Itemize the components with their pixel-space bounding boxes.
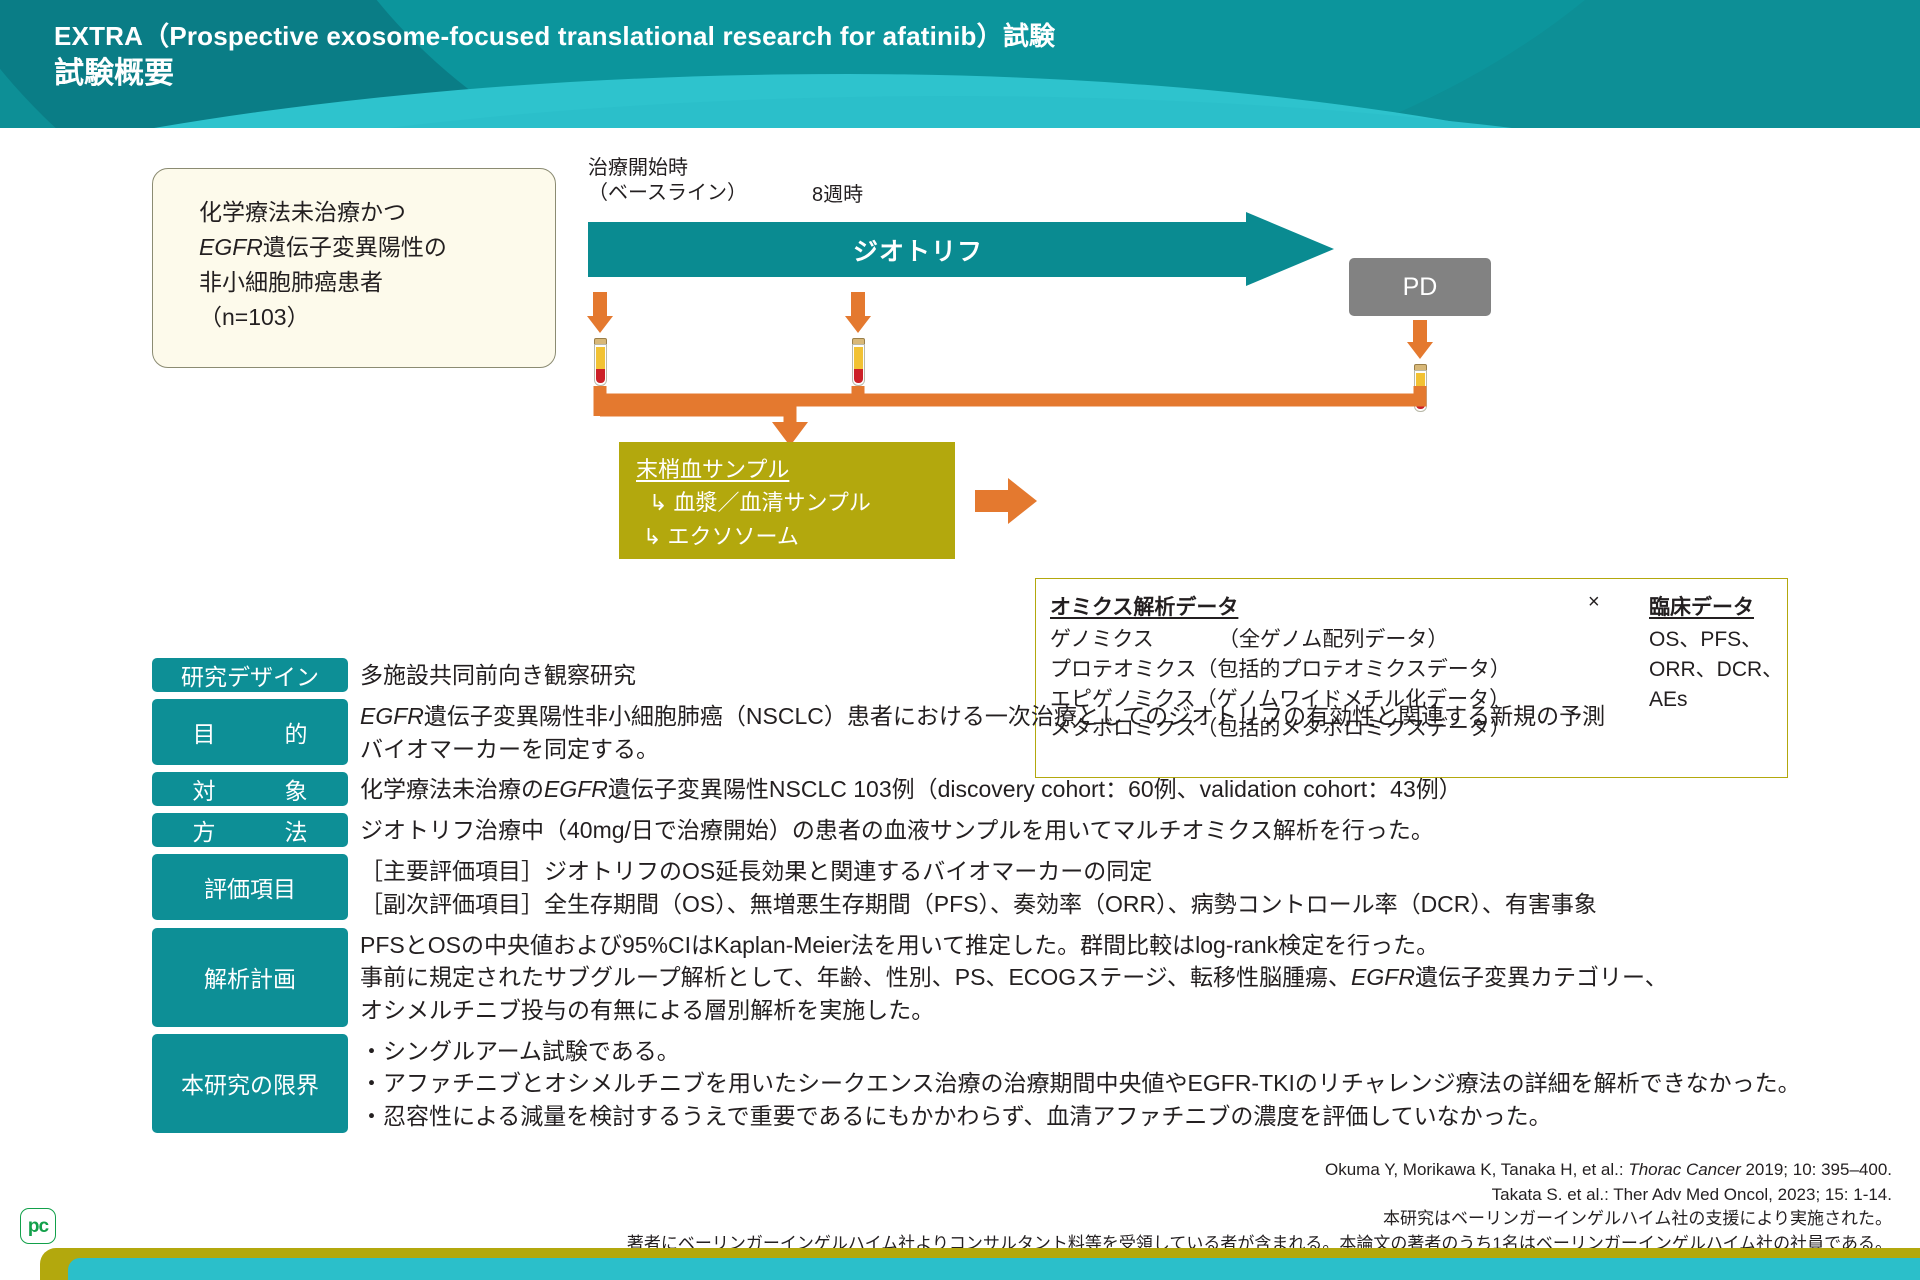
table-row-content: ・シングルアーム試験である。・アファチニブとオシメルチニブを用いたシークエンス治… xyxy=(360,1034,1801,1133)
table-row-label: 方 法 xyxy=(152,813,348,847)
table-row-line: ジオトリフ治療中（40mg/日で治療開始）の患者の血液サンプルを用いてマルチオミ… xyxy=(360,814,1434,847)
table-row-label: 対 象 xyxy=(152,772,348,806)
table-row-line: 多施設共同前向き観察研究 xyxy=(360,659,636,692)
table-row-content: 化学療法未治療のEGFR遺伝子変異陽性NSCLC 103例（discovery … xyxy=(360,772,1462,806)
blood-sample-item-plasma: ↳ 血漿／血清サンプル xyxy=(649,485,871,517)
text-segment: Takata S. et al.: Ther Adv Med Oncol, 20… xyxy=(1492,1185,1892,1204)
table-row-label: 本研究の限界 xyxy=(152,1034,348,1133)
text-segment: 化学療法未治療の xyxy=(360,776,544,802)
table-row-content: 多施設共同前向き観察研究 xyxy=(360,658,636,692)
omics-row-detail: （全ゲノム配列データ） xyxy=(1218,625,1448,655)
blood-sample-box: 末梢血サンプル ↳ 血漿／血清サンプル ↳ エクソソーム xyxy=(619,442,955,559)
text-segment: 多施設共同前向き観察研究 xyxy=(360,662,636,688)
table-row-content: PFSとOSの中央値および95%CIはKaplan-Meier法を用いて推定した… xyxy=(360,928,1668,1027)
table-row: 方 法ジオトリフ治療中（40mg/日で治療開始）の患者の血液サンプルを用いてマル… xyxy=(0,813,1920,847)
table-row-line: 化学療法未治療のEGFR遺伝子変異陽性NSCLC 103例（discovery … xyxy=(360,773,1462,806)
text-segment: ［副次評価項目］全生存期間（OS）、無増悪生存期間（PFS）、奏効率（ORR）、… xyxy=(360,891,1597,917)
table-row: 目 的EGFR遺伝子変異陽性非小細胞肺癌（NSCLC）患者における一次治療として… xyxy=(0,699,1920,765)
text-segment: ・シングルアーム試験である。 xyxy=(360,1038,680,1064)
gene-name: EGFR xyxy=(544,776,608,802)
clinical-row: OS、PFS、 xyxy=(1649,625,1783,655)
table-row-label: 研究デザイン xyxy=(152,658,348,692)
omics-row-name: ゲノミクス xyxy=(1050,625,1218,655)
text-segment: PFSとOSの中央値および95%CIはKaplan-Meier法を用いて推定した… xyxy=(360,932,1439,958)
table-row: 解析計画PFSとOSの中央値および95%CIはKaplan-Meier法を用いて… xyxy=(0,928,1920,1027)
text-segment: 遺伝子変異カテゴリー、 xyxy=(1415,964,1668,990)
table-row-content: EGFR遺伝子変異陽性非小細胞肺癌（NSCLC）患者における一次治療としてのジオ… xyxy=(360,699,1605,765)
table-row-label: 目 的 xyxy=(152,699,348,765)
arrow-head xyxy=(1008,478,1037,524)
table-row: 本研究の限界・シングルアーム試験である。・アファチニブとオシメルチニブを用いたシ… xyxy=(0,1034,1920,1133)
blood-sample-item-exosome: ↳ エクソソーム xyxy=(643,519,799,551)
table-row-line: ・アファチニブとオシメルチニブを用いたシークエンス治療の治療期間中央値やEGFR… xyxy=(360,1067,1801,1100)
slide-header: EXTRA（Prospective exosome-focused transl… xyxy=(0,0,1920,128)
reference-line: Takata S. et al.: Ther Adv Med Oncol, 20… xyxy=(22,1183,1892,1208)
text-segment: ・忍容性による減量を検討するうえで重要であるにもかかわらず、血清アファチニブの濃… xyxy=(360,1103,1552,1129)
journal-name: Thorac Cancer xyxy=(1628,1160,1740,1179)
table-row-label: 評価項目 xyxy=(152,854,348,920)
table-row: 評価項目［主要評価項目］ジオトリフのOS延長効果と関連するバイオマーカーの同定［… xyxy=(0,854,1920,920)
table-row-label: 解析計画 xyxy=(152,928,348,1027)
gene-name: EGFR xyxy=(360,703,424,729)
table-row-content: ［主要評価項目］ジオトリフのOS延長効果と関連するバイオマーカーの同定［副次評価… xyxy=(360,854,1597,920)
gene-name: EGFR xyxy=(1351,964,1415,990)
text-segment: ［主要評価項目］ジオトリフのOS延長効果と関連するバイオマーカーの同定 xyxy=(360,858,1152,884)
pc-logo-text: pc xyxy=(28,1217,48,1236)
clinical-header: 臨床データ xyxy=(1649,591,1754,621)
omics-row: ゲノミクス（全ゲノム配列データ） xyxy=(1050,625,1511,655)
table-row-line: バイオマーカーを同定する。 xyxy=(360,733,1605,766)
text-segment: 本研究はベーリンガーインゲルハイム社の支援により実施された。 xyxy=(1383,1209,1892,1228)
table-row-content: ジオトリフ治療中（40mg/日で治療開始）の患者の血液サンプルを用いてマルチオミ… xyxy=(360,813,1434,847)
text-segment: バイオマーカーを同定する。 xyxy=(360,736,659,762)
pc-logo: pc xyxy=(20,1208,56,1244)
text-segment: Okuma Y, Morikawa K, Tanaka H, et al.: xyxy=(1325,1160,1628,1179)
table-row-line: オシメルチニブ投与の有無による層別解析を実施した。 xyxy=(360,994,1668,1027)
text-segment: 遺伝子変異陽性非小細胞肺癌（NSCLC）患者における一次治療としてのジオトリフの… xyxy=(424,703,1605,729)
text-segment: 事前に規定されたサブグループ解析として、年齢、性別、PS、ECOGステージ、転移… xyxy=(360,964,1351,990)
study-summary-table: 研究デザイン多施設共同前向き観察研究目 的EGFR遺伝子変異陽性非小細胞肺癌（N… xyxy=(0,658,1920,1140)
multiply-symbol: × xyxy=(1588,591,1600,614)
table-row-line: ［副次評価項目］全生存期間（OS）、無増悪生存期間（PFS）、奏効率（ORR）、… xyxy=(360,888,1597,921)
table-row-line: PFSとOSの中央値および95%CIはKaplan-Meier法を用いて推定した… xyxy=(360,929,1668,962)
text-segment: ジオトリフ治療中（40mg/日で治療開始）の患者の血液サンプルを用いてマルチオミ… xyxy=(360,817,1434,843)
slide-subtitle: EXTRA（Prospective exosome-focused transl… xyxy=(54,20,1055,53)
bottom-bar xyxy=(0,1248,1920,1280)
table-row-line: ［主要評価項目］ジオトリフのOS延長効果と関連するバイオマーカーの同定 xyxy=(360,855,1597,888)
table-row-line: 事前に規定されたサブグループ解析として、年齢、性別、PS、ECOGステージ、転移… xyxy=(360,961,1668,994)
table-row-line: EGFR遺伝子変異陽性非小細胞肺癌（NSCLC）患者における一次治療としてのジオ… xyxy=(360,700,1605,733)
table-row: 研究デザイン多施設共同前向き観察研究 xyxy=(0,658,1920,692)
table-row: 対 象化学療法未治療のEGFR遺伝子変異陽性NSCLC 103例（discove… xyxy=(0,772,1920,806)
omics-header: オミクス解析データ xyxy=(1050,591,1238,621)
table-row-line: ・シングルアーム試験である。 xyxy=(360,1035,1801,1068)
text-segment: 2019; 10: 395–400. xyxy=(1741,1160,1892,1179)
bottom-bar-cyan xyxy=(68,1258,1920,1280)
reference-block: Okuma Y, Morikawa K, Tanaka H, et al.: T… xyxy=(22,1158,1892,1257)
text-segment: オシメルチニブ投与の有無による層別解析を実施した。 xyxy=(360,997,934,1023)
page-title: 試験概要 xyxy=(54,55,1055,93)
table-row-line: ・忍容性による減量を検討するうえで重要であるにもかかわらず、血清アファチニブの濃… xyxy=(360,1100,1801,1133)
arrow-body xyxy=(975,490,1009,512)
reference-line: Okuma Y, Morikawa K, Tanaka H, et al.: T… xyxy=(22,1158,1892,1183)
reference-line: 本研究はベーリンガーインゲルハイム社の支援により実施された。 xyxy=(22,1207,1892,1232)
flow-arrow-to-omics xyxy=(975,478,1037,524)
study-design-diagram: 化学療法未治療かつ EGFR遺伝子変異陽性の 非小細胞肺癌患者 （n=103） … xyxy=(0,128,1920,658)
blood-sample-title: 末梢血サンプル xyxy=(636,452,789,484)
text-segment: 遺伝子変異陽性NSCLC 103例（discovery cohort：60例、v… xyxy=(608,776,1462,802)
text-segment: ・アファチニブとオシメルチニブを用いたシークエンス治療の治療期間中央値やEGFR… xyxy=(360,1070,1801,1096)
header-text-block: EXTRA（Prospective exosome-focused transl… xyxy=(54,20,1055,94)
